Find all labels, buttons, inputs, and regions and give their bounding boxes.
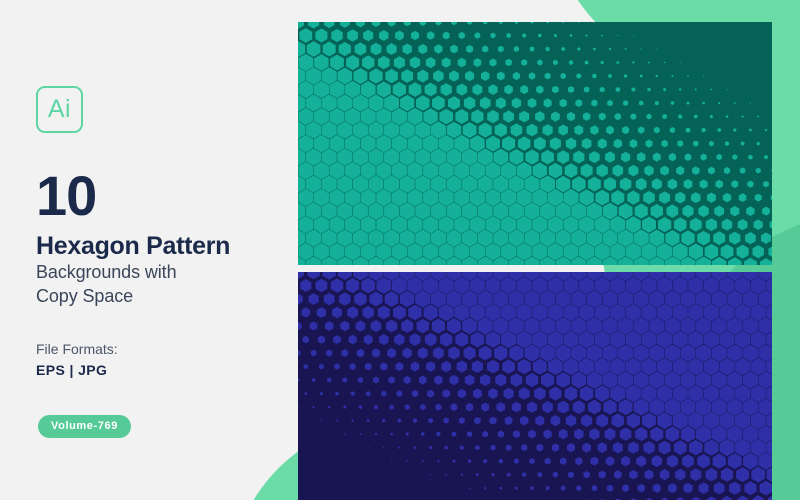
volume-badge: Volume-769 [38, 415, 131, 438]
poster-canvas: Ai 10 Hexagon Pattern Backgrounds with C… [0, 0, 800, 500]
navy-hexagon-preview[interactable] [298, 272, 772, 500]
subtitle-line-1: Backgrounds with [36, 260, 286, 284]
adobe-illustrator-label: Ai [48, 97, 71, 122]
subtitle-line-2: Copy Space [36, 284, 286, 308]
file-formats-label: File Formats: [36, 339, 286, 360]
adobe-illustrator-icon: Ai [36, 86, 83, 133]
item-count: 10 [36, 169, 286, 222]
teal-hexagon-preview[interactable] [298, 22, 772, 265]
info-column: Ai 10 Hexagon Pattern Backgrounds with C… [36, 86, 286, 381]
file-formats-value: EPS | JPG [36, 360, 286, 381]
page-title: Hexagon Pattern [36, 232, 286, 260]
